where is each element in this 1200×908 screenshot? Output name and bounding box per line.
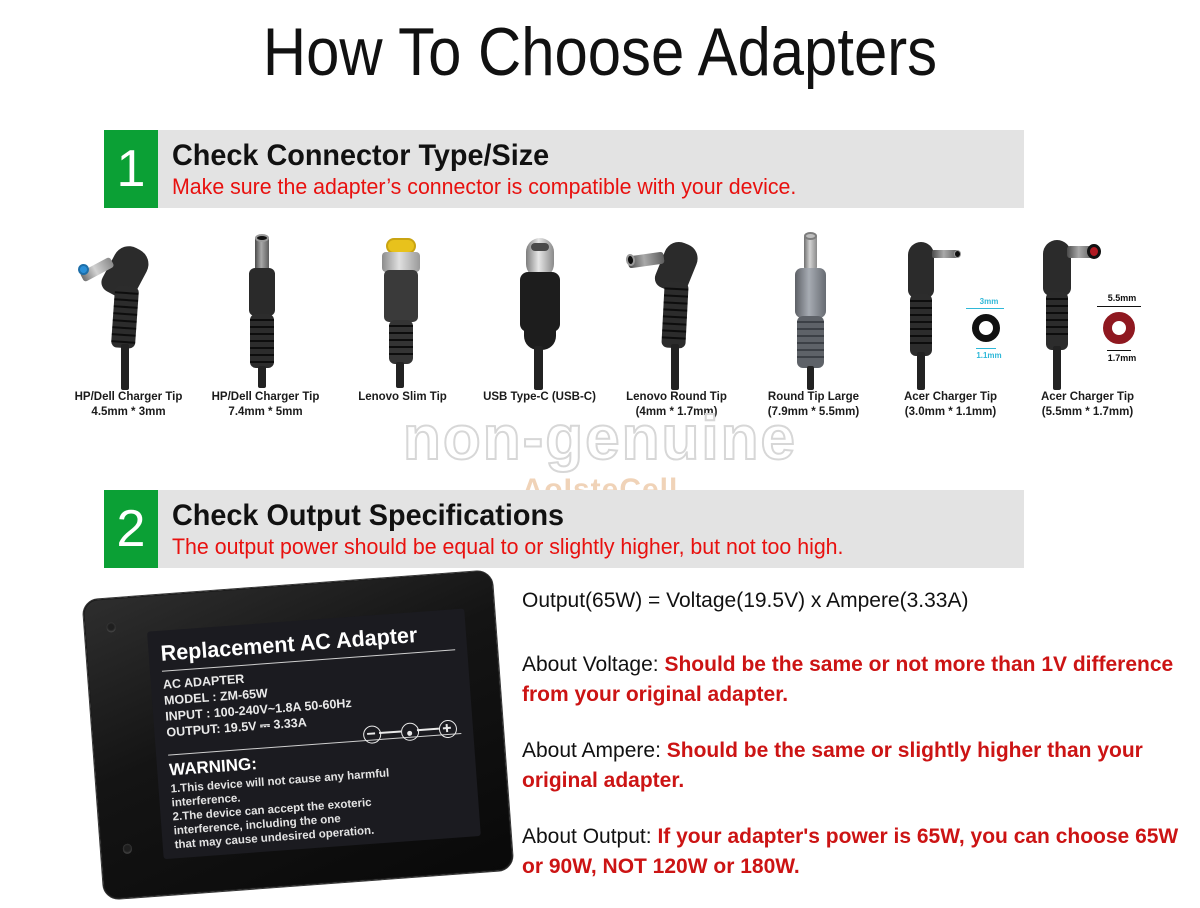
connector-caption-1: HP/Dell Charger Tip 4.5mm * 3mm: [60, 390, 197, 420]
callout-outer-label-1: 3mm: [960, 297, 1018, 306]
adapter-label-plate: Replacement AC Adapter AC ADAPTER MODEL …: [147, 608, 481, 859]
connector-item-2[interactable]: HP/Dell Charger Tip 7.4mm * 5mm: [197, 228, 334, 443]
connector-item-6[interactable]: Round Tip Large (7.9mm * 5.5mm): [745, 228, 882, 443]
connector-item-3[interactable]: Lenovo Slim Tip: [334, 228, 471, 443]
connector-size-6: (7.9mm * 5.5mm): [745, 405, 882, 420]
connector-size-7: (3.0mm * 1.1mm): [882, 405, 1019, 420]
connector-name-8: Acer Charger Tip: [1041, 391, 1134, 403]
connector-item-8[interactable]: 5.5mm 1.7mm Acer Charger Tip (5.5mm * 1.…: [1019, 228, 1156, 443]
connector-caption-3: Lenovo Slim Tip: [334, 390, 471, 405]
step-2-number-badge: 2: [104, 490, 158, 568]
connector-item-4[interactable]: USB Type-C (USB-C): [471, 228, 608, 443]
about-output-paragraph: About Output: If your adapter's power is…: [522, 822, 1182, 882]
connector-caption-6: Round Tip Large (7.9mm * 5.5mm): [745, 390, 882, 420]
hp-elbow-blue-tip-icon: [60, 228, 197, 388]
connector-caption-2: HP/Dell Charger Tip 7.4mm * 5mm: [197, 390, 334, 420]
connector-gallery: HP/Dell Charger Tip 4.5mm * 3mm HP/Dell …: [60, 228, 1160, 443]
callout-outer-label-2: 5.5mm: [1093, 293, 1151, 303]
about-output-key: About Output:: [522, 825, 657, 848]
step-1-text-group: Check Connector Type/Size Make sure the …: [158, 130, 1024, 208]
connector-name-4: USB Type-C (USB-C): [483, 391, 596, 403]
connector-caption-8: Acer Charger Tip (5.5mm * 1.7mm): [1019, 390, 1156, 420]
adapter-body: Replacement AC Adapter AC ADAPTER MODEL …: [81, 569, 514, 900]
round-large-gray-tip-icon: [745, 228, 882, 388]
step-2-subtitle: The output power should be equal to or s…: [172, 533, 998, 561]
about-ampere-paragraph: About Ampere: Should be the same or slig…: [522, 736, 1182, 796]
acer-elbow-tip-5.5mm-icon: 5.5mm 1.7mm: [1019, 228, 1156, 388]
connector-name-3: Lenovo Slim Tip: [358, 391, 447, 403]
hp-straight-barrel-tip-icon: [197, 228, 334, 388]
connector-caption-5: Lenovo Round Tip (4mm * 1.7mm): [608, 390, 745, 420]
connector-size-8: (5.5mm * 1.7mm): [1019, 405, 1156, 420]
acer-elbow-tip-3mm-icon: 3mm 1.1mm: [882, 228, 1019, 388]
lenovo-slim-yellow-tip-icon: [334, 228, 471, 388]
connector-size-5: (4mm * 1.7mm): [608, 405, 745, 420]
step-1-subtitle: Make sure the adapter’s connector is com…: [172, 173, 998, 201]
connector-size-1: 4.5mm * 3mm: [60, 405, 197, 420]
output-equation: Output(65W) = Voltage(19.5V) x Ampere(3.…: [522, 586, 1182, 616]
connector-caption-7: Acer Charger Tip (3.0mm * 1.1mm): [882, 390, 1019, 420]
step-2-text-group: Check Output Specifications The output p…: [158, 490, 1024, 568]
connector-item-7[interactable]: 3mm 1.1mm Acer Charger Tip (3.0mm * 1.1m…: [882, 228, 1019, 443]
connector-caption-4: USB Type-C (USB-C): [471, 390, 608, 405]
dimension-callout-3mm: 3mm 1.1mm: [960, 300, 1018, 372]
about-ampere-key: About Ampere:: [522, 739, 667, 762]
connector-name-5: Lenovo Round Tip: [626, 391, 727, 403]
callout-inner-label-1: 1.1mm: [960, 351, 1018, 360]
connector-name-7: Acer Charger Tip: [904, 391, 997, 403]
step-1-number-badge: 1: [104, 130, 158, 208]
screw-dot-bottom-left: [123, 843, 133, 853]
connector-name-2: HP/Dell Charger Tip: [212, 391, 320, 403]
screw-dot-top-left: [106, 622, 116, 632]
lenovo-round-elbow-tip-icon: [608, 228, 745, 388]
connector-name-1: HP/Dell Charger Tip: [75, 391, 183, 403]
infographic-page: How To Choose Adapters 1 Check Connector…: [0, 0, 1200, 900]
callout-inner-label-2: 1.7mm: [1093, 353, 1151, 363]
step-1-header: 1 Check Connector Type/Size Make sure th…: [104, 130, 1024, 208]
adapter-photo: Replacement AC Adapter AC ADAPTER MODEL …: [80, 578, 510, 890]
connector-size-2: 7.4mm * 5mm: [197, 405, 334, 420]
step-2-header: 2 Check Output Specifications The output…: [104, 490, 1024, 568]
step-1-title: Check Connector Type/Size: [172, 139, 990, 173]
connector-item-5[interactable]: Lenovo Round Tip (4mm * 1.7mm): [608, 228, 745, 443]
about-voltage-paragraph: About Voltage: Should be the same or not…: [522, 650, 1182, 710]
output-spec-text: Output(65W) = Voltage(19.5V) x Ampere(3.…: [522, 586, 1182, 908]
connector-item-1[interactable]: HP/Dell Charger Tip 4.5mm * 3mm: [60, 228, 197, 443]
step-2-title: Check Output Specifications: [172, 499, 990, 533]
dimension-callout-5.5mm: 5.5mm 1.7mm: [1093, 292, 1155, 372]
usb-c-connector-icon: [471, 228, 608, 388]
about-voltage-key: About Voltage:: [522, 653, 664, 676]
page-title: How To Choose Adapters: [72, 16, 1128, 88]
connector-name-6: Round Tip Large: [768, 391, 859, 403]
